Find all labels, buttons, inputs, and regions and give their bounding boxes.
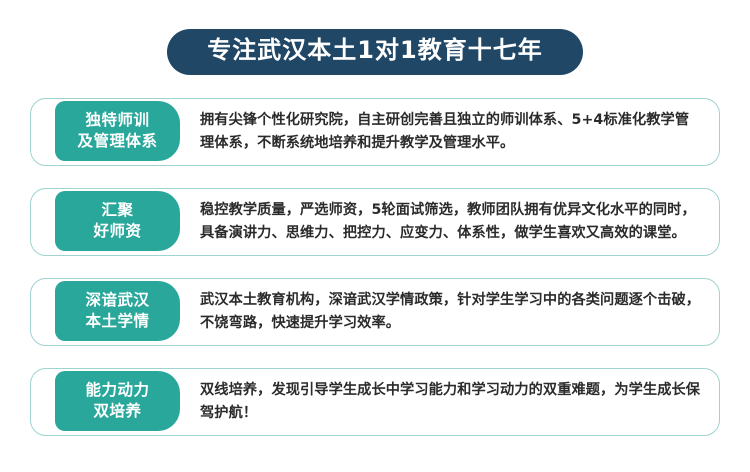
badge-label-line1: 独特师训 — [85, 110, 149, 131]
badge-label-line2: 本土学情 — [85, 311, 149, 332]
feature-badge: 能力动力 双培养 — [55, 371, 180, 431]
feature-description: 双线培养，发现引导学生成长中学习能力和学习动力的双重难题，为学生成长保驾护航！ — [200, 379, 701, 425]
feature-description: 拥有尖锋个性化研究院，自主研创完善且独立的师训体系、5+4标准化教学管理体系，不… — [200, 109, 701, 155]
feature-badge: 深谙武汉 本土学情 — [55, 281, 180, 341]
feature-description: 武汉本土教育机构，深谙武汉学情政策，针对学生学习中的各类问题逐个击破，不饶弯路，… — [200, 289, 701, 335]
feature-card: 独特师训 及管理体系 拥有尖锋个性化研究院，自主研创完善且独立的师训体系、5+4… — [30, 98, 720, 166]
header-banner: 专注武汉本土1对1教育十七年 — [0, 0, 750, 75]
badge-label-line1: 汇聚 — [101, 200, 133, 221]
feature-description: 稳控教学质量，严选师资，5轮面试筛选，教师团队拥有优异文化水平的同时，具备演讲力… — [200, 199, 701, 245]
page-title: 专注武汉本土1对1教育十七年 — [167, 29, 582, 75]
promo-page: { "header": { "title": "专注武汉本土1对1教育十七年",… — [0, 0, 750, 472]
badge-label-line2: 好师资 — [93, 221, 141, 242]
badge-label-line2: 及管理体系 — [77, 131, 157, 152]
badge-label-line1: 深谙武汉 — [85, 290, 149, 311]
feature-card: 深谙武汉 本土学情 武汉本土教育机构，深谙武汉学情政策，针对学生学习中的各类问题… — [30, 278, 720, 346]
feature-badge: 汇聚 好师资 — [55, 191, 180, 251]
badge-label-line1: 能力动力 — [85, 380, 149, 401]
feature-badge: 独特师训 及管理体系 — [55, 101, 180, 161]
feature-list: 独特师训 及管理体系 拥有尖锋个性化研究院，自主研创完善且独立的师训体系、5+4… — [0, 98, 750, 436]
badge-label-line2: 双培养 — [93, 401, 141, 422]
feature-card: 汇聚 好师资 稳控教学质量，严选师资，5轮面试筛选，教师团队拥有优异文化水平的同… — [30, 188, 720, 256]
feature-card: 能力动力 双培养 双线培养，发现引导学生成长中学习能力和学习动力的双重难题，为学… — [30, 368, 720, 436]
